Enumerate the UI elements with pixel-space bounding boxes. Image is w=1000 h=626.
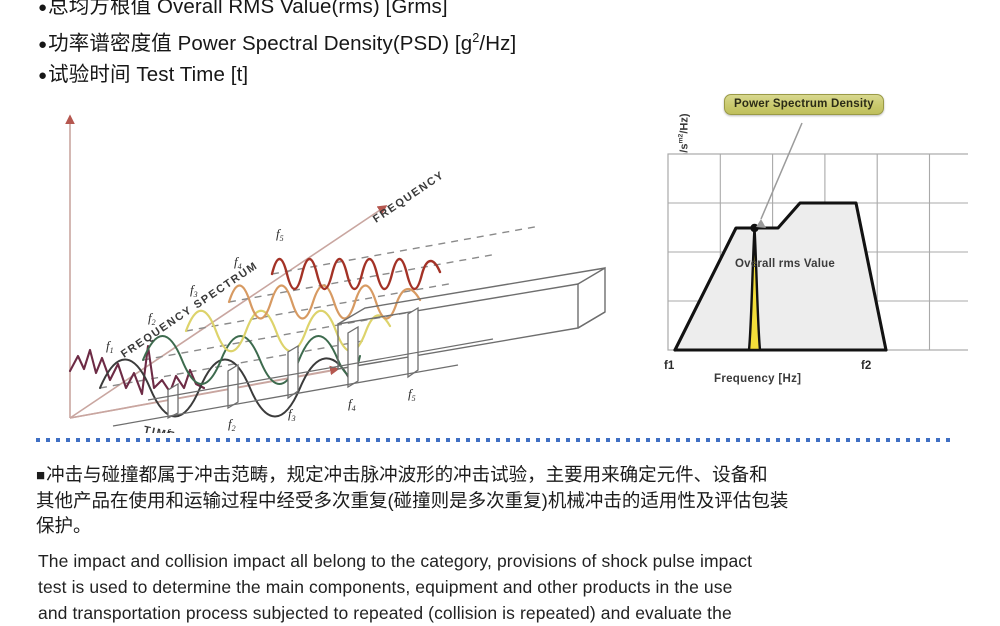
chinese-line-1: ■冲击与碰撞都属于冲击范畴，规定冲击脉冲波形的冲击试验，主要用来确定元件、设备和 [36,462,944,488]
psd-chart: Power Spectrum Density PSD[(gm/sm2/Hz) [630,88,968,433]
bullet-marker-icon: ● [38,36,47,53]
english-line-2: test is used to determine the main compo… [38,574,944,600]
bullet-text-rms: 总均方根值 Overall RMS Value(rms) [Grms] [48,0,447,18]
psd-x-axis-label: Frequency [Hz] [714,373,801,385]
psd-overall-rms-label: Overall rms Value [735,258,835,270]
psd-xtick-f1: f1 [664,360,674,372]
freq-label-f4: f4 [348,396,356,413]
freq-label-f3: f3 [288,406,296,423]
bullet-text-psd: 功率谱密度值 Power Spectral Density(PSD) [g [48,32,472,55]
label-frequency: FREQUENCY [371,169,447,226]
english-line-3: and transportation process subjected to … [38,600,944,626]
bullet-item-rms: ●总均方根值 Overall RMS Value(rms) [Grms] [38,0,968,23]
psd-plot-svg [630,88,968,388]
psd-xtick-f2: f2 [861,360,871,372]
waveform-f1 [100,358,350,416]
bullet-list: ●总均方根值 Overall RMS Value(rms) [Grms] ●功率… [38,0,968,91]
bullet-marker-icon: ● [38,0,47,16]
chinese-paragraph: ■冲击与碰撞都属于冲击范畴，规定冲击脉冲波形的冲击试验，主要用来确定元件、设备和… [36,462,944,538]
waveform-f3 [186,311,390,352]
section-divider [36,438,950,442]
bullet-item-psd: ●功率谱密度值 Power Spectral Density(PSD) [g2/… [38,23,968,60]
square-marker-icon: ■ [36,467,45,484]
freq-label-f3-upper: f3 [190,282,198,299]
bullet-marker-icon: ● [38,67,47,84]
freq-label-f4-upper: f4 [234,254,242,271]
chinese-line-3: 保护。 [36,513,944,538]
freq-label-f2-upper: f2 [148,310,156,327]
bullet-text-test-time: 试验时间 Test Time [t] [48,63,248,86]
label-time-signal: TIME SIGNAL [142,424,231,433]
bullet-psd-tail: /Hz] [479,32,516,55]
bullet-item-test-time: ●试验时间 Test Time [t] [38,60,968,91]
freq-label-f2: f2 [228,416,236,433]
chinese-line-1-text: 冲击与碰撞都属于冲击范畴，规定冲击脉冲波形的冲击试验，主要用来确定元件、设备和 [46,464,768,485]
waterfall-diagram: FREQUENCY SPECTRUM FREQUENCY TIME SIGNAL… [38,88,618,433]
waveform-f5 [272,259,440,289]
freq-label-f5: f5 [408,386,416,403]
chinese-line-2: 其他产品在使用和运输过程中经受多次重复(碰撞则是多次重复)机械冲击的适用性及评估… [36,488,944,513]
spectrum-baseline [113,365,458,426]
waterfall-svg: FREQUENCY SPECTRUM FREQUENCY TIME SIGNAL… [38,88,618,433]
freq-label-f1-upper: f1 [106,338,114,355]
freq-label-f5-upper: f5 [276,226,284,243]
figure-area: FREQUENCY SPECTRUM FREQUENCY TIME SIGNAL… [38,88,968,433]
english-line-1: The impact and collision impact all belo… [38,548,944,574]
english-paragraph: The impact and collision impact all belo… [38,548,944,626]
waveform-f4 [229,286,420,319]
